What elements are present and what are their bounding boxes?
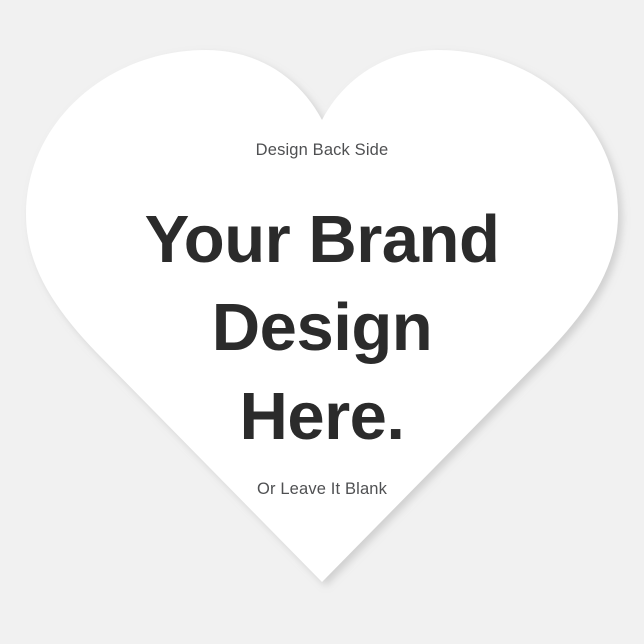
sticker-preview-canvas: Design Back Side Your Brand Design Here.… — [0, 0, 644, 644]
heart-sticker-shape[interactable] — [0, 0, 644, 644]
heart-outline-path — [26, 50, 618, 582]
